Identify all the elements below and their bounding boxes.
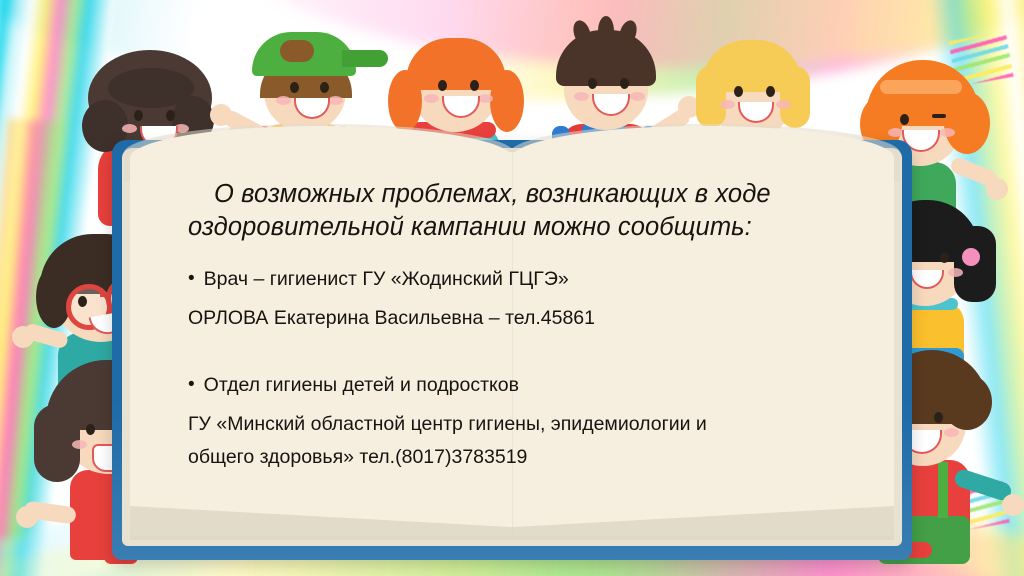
slide-text-content: О возможных проблемах, возникающих в ход… <box>188 178 846 476</box>
bullet-dot-icon: • <box>188 372 195 397</box>
contact-line-2-2: общего здоровья» тел.(8017)3783519 <box>188 444 846 471</box>
bullet-text-2: Отдел гигиены детей и подростков <box>204 372 519 398</box>
bullet-text-1: Врач – гигиенист ГУ «Жодинский ГЦГЭ» <box>204 266 569 292</box>
contact-block-1: • Врач – гигиенист ГУ «Жодинский ГЦГЭ» О… <box>188 266 846 332</box>
contact-line-2-1: ГУ «Минский областной центр гигиены, эпи… <box>188 411 846 438</box>
bullet-item-1: • Врач – гигиенист ГУ «Жодинский ГЦГЭ» <box>188 266 846 292</box>
bullet-item-2: • Отдел гигиены детей и подростков <box>188 372 846 398</box>
book-page-stack: О возможных проблемах, возникающих в ход… <box>122 148 902 546</box>
open-book: О возможных проблемах, возникающих в ход… <box>112 140 912 560</box>
slide-canvas: О возможных проблемах, возникающих в ход… <box>0 0 1024 576</box>
section-spacer <box>188 338 846 372</box>
contact-line-1-1: ОРЛОВА Екатерина Васильевна – тел.45861 <box>188 305 846 332</box>
slide-title: О возможных проблемах, возникающих в ход… <box>188 178 846 244</box>
book-page: О возможных проблемах, возникающих в ход… <box>130 152 894 536</box>
contact-block-2: • Отдел гигиены детей и подростков ГУ «М… <box>188 372 846 470</box>
bullet-dot-icon: • <box>188 266 195 291</box>
